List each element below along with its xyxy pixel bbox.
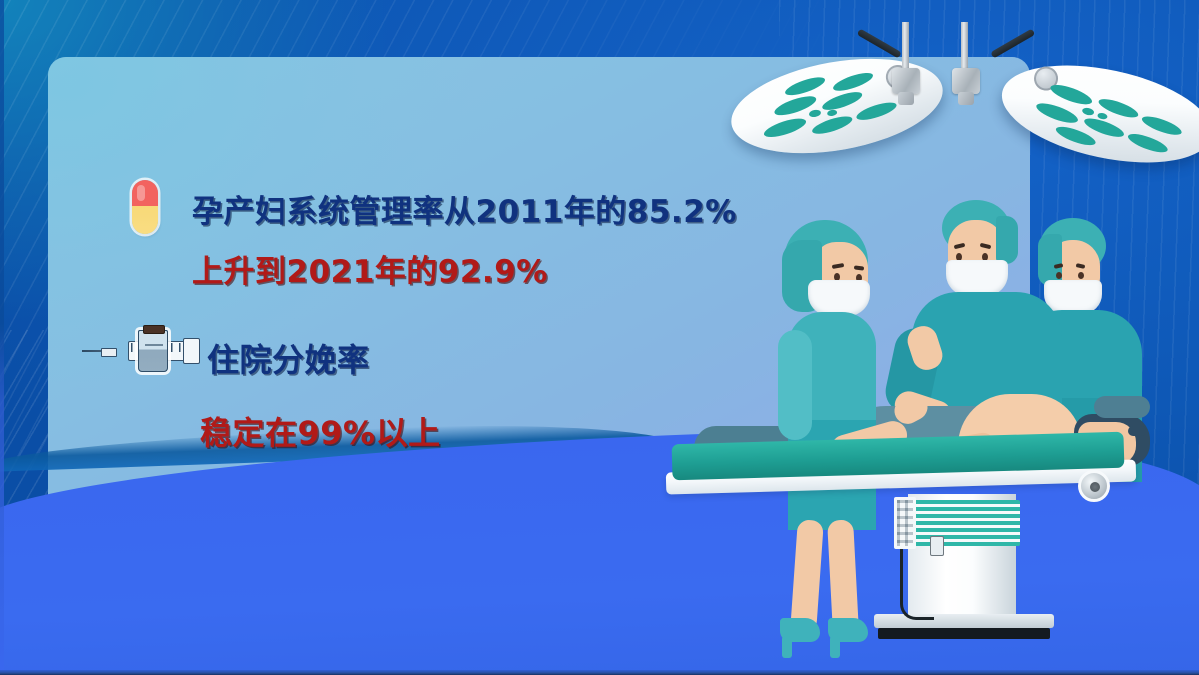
operating-table-base-plate [874, 614, 1054, 628]
lamp-joint-right [952, 68, 980, 94]
operating-table-base-shadow [878, 628, 1050, 639]
bullet-1-line-2: 上升到2021年的92.9% [192, 246, 548, 291]
background-bottom-strip [0, 670, 1199, 675]
syringe-plunger [183, 338, 200, 364]
surgical-lamp-assembly [884, 22, 1074, 162]
power-cable [900, 546, 934, 620]
bullet-2-line-2: 稳定在99%以上 [200, 408, 441, 454]
operating-table-vent-fins [912, 500, 1020, 546]
bullet-1-line-1: 孕产妇系统管理率从2011年的85.2% [192, 186, 737, 231]
lamp-joint-left [892, 68, 920, 94]
slide-canvas: 孕产妇系统管理率从2011年的85.2% 上升到2021年的92.9% 住院分娩… [0, 0, 1199, 675]
syringe-needle [82, 350, 116, 352]
vial-label [145, 344, 163, 346]
medicine-vial [138, 330, 168, 372]
cable-connector-box [930, 536, 944, 556]
background-left-edge [0, 0, 4, 675]
syringe-vial-icon [82, 330, 202, 372]
lamp-joint-left-lower [898, 92, 914, 105]
bullet-2-line-1: 住院分娩率 [207, 335, 370, 381]
pill-capsule-icon [132, 180, 158, 234]
operating-table-control-grid [894, 497, 916, 549]
lamp-joint-right-lower [958, 92, 974, 105]
vial-cap [143, 325, 165, 334]
operating-table-adjust-knob[interactable] [1078, 470, 1110, 502]
